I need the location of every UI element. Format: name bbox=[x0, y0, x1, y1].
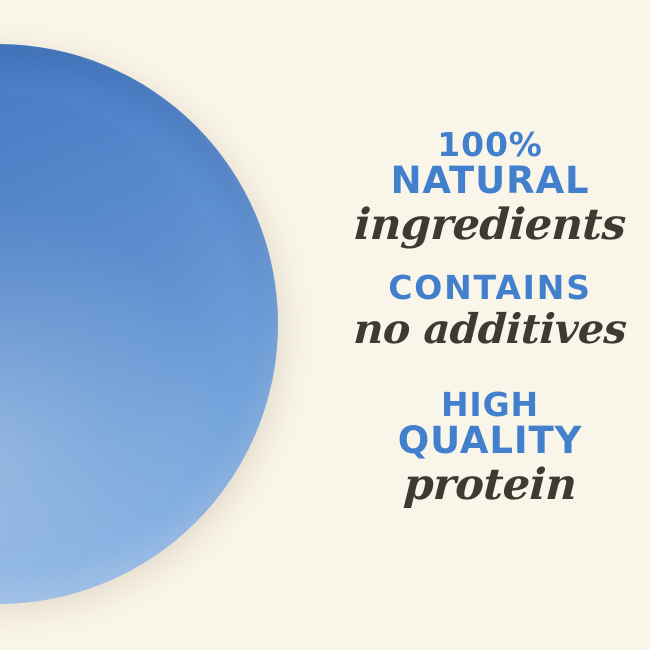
claim-3-kicker-line-1: HIGH bbox=[330, 388, 650, 422]
plate-inner-well bbox=[0, 94, 228, 553]
claim-2-script: no additives bbox=[329, 307, 650, 353]
claim-1-kicker-line-2: NATURAL bbox=[330, 162, 650, 200]
claim-2-kicker: CONTAINS bbox=[330, 271, 650, 305]
product-claims-poster: 100% NATURAL ingredients CONTAINS no add… bbox=[0, 0, 650, 650]
claim-3-script: protein bbox=[329, 461, 650, 509]
claim-natural-ingredients: 100% NATURAL ingredients bbox=[330, 128, 650, 250]
plate-image bbox=[0, 44, 278, 604]
claim-high-quality-protein: HIGH QUALITY protein bbox=[330, 388, 650, 510]
claim-1-kicker-line-1: 100% bbox=[330, 128, 650, 162]
claim-1-kicker: 100% NATURAL bbox=[330, 128, 650, 199]
claim-no-additives: CONTAINS no additives bbox=[330, 271, 650, 353]
claim-3-kicker-line-2: QUALITY bbox=[330, 422, 650, 460]
claims-column: 100% NATURAL ingredients CONTAINS no add… bbox=[330, 0, 650, 650]
blue-plate bbox=[0, 44, 278, 604]
claim-1-script: ingredients bbox=[329, 201, 650, 249]
claim-3-kicker: HIGH QUALITY bbox=[330, 388, 650, 459]
